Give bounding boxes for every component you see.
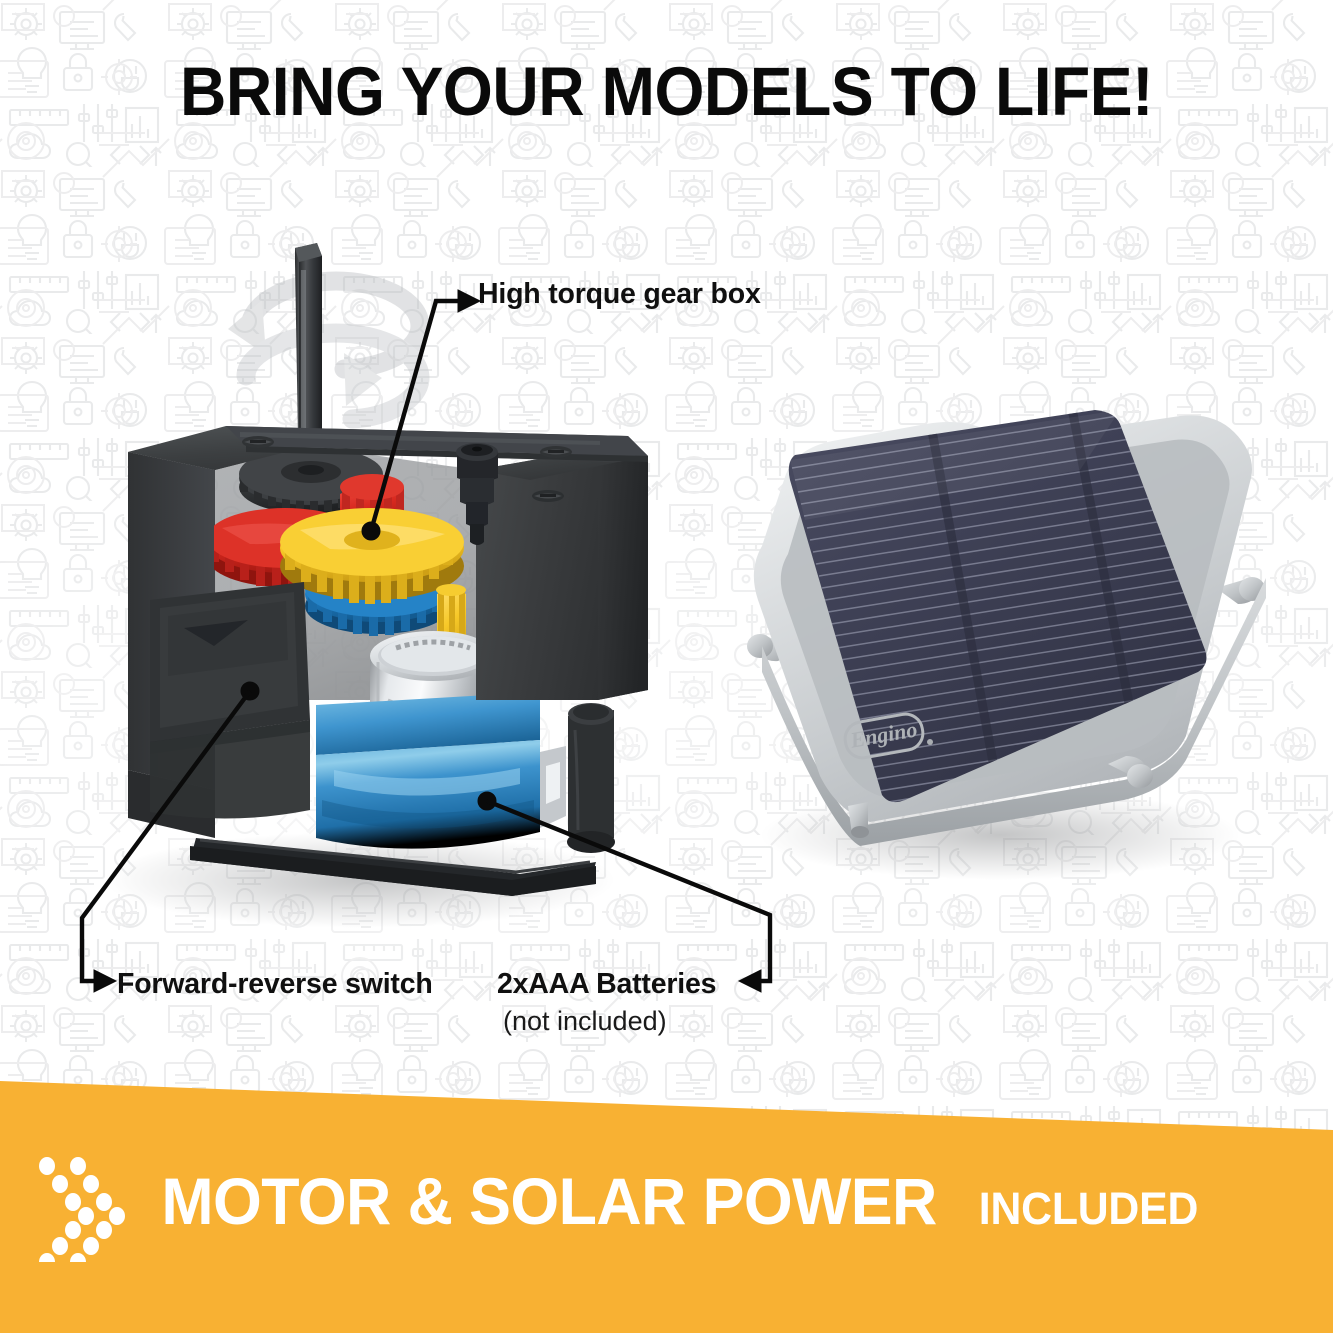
infographic-canvas: BRING YOUR MODELS TO LIFE!	[0, 0, 1333, 1333]
side-post	[567, 703, 615, 853]
solar-panel-module: Engino	[747, 390, 1292, 846]
banner-sub-text: INCLUDED	[979, 1186, 1198, 1231]
connector-pin	[848, 802, 869, 838]
screw-icon	[242, 436, 274, 448]
callout-label-gearbox: High torque gear box	[478, 278, 761, 311]
rotation-arrows-icon	[228, 281, 420, 419]
banner-text: MOTOR & SOLAR POWER INCLUDED	[141, 1168, 1204, 1234]
callout-label-switch: Forward-reverse switch	[117, 968, 433, 1001]
arrow-dot-pattern-icon	[34, 1152, 142, 1262]
banner-main-text: MOTOR & SOLAR POWER	[161, 1168, 936, 1234]
aaa-battery	[316, 692, 566, 849]
screw-icon	[540, 446, 572, 458]
output-shaft	[295, 243, 322, 438]
screw-icon	[532, 490, 564, 502]
callout-sublabel-batteries: (not included)	[503, 1006, 667, 1037]
page-title: BRING YOUR MODELS TO LIFE!	[47, 57, 1287, 126]
callout-label-batteries: 2xAAA Batteries	[497, 968, 716, 1001]
